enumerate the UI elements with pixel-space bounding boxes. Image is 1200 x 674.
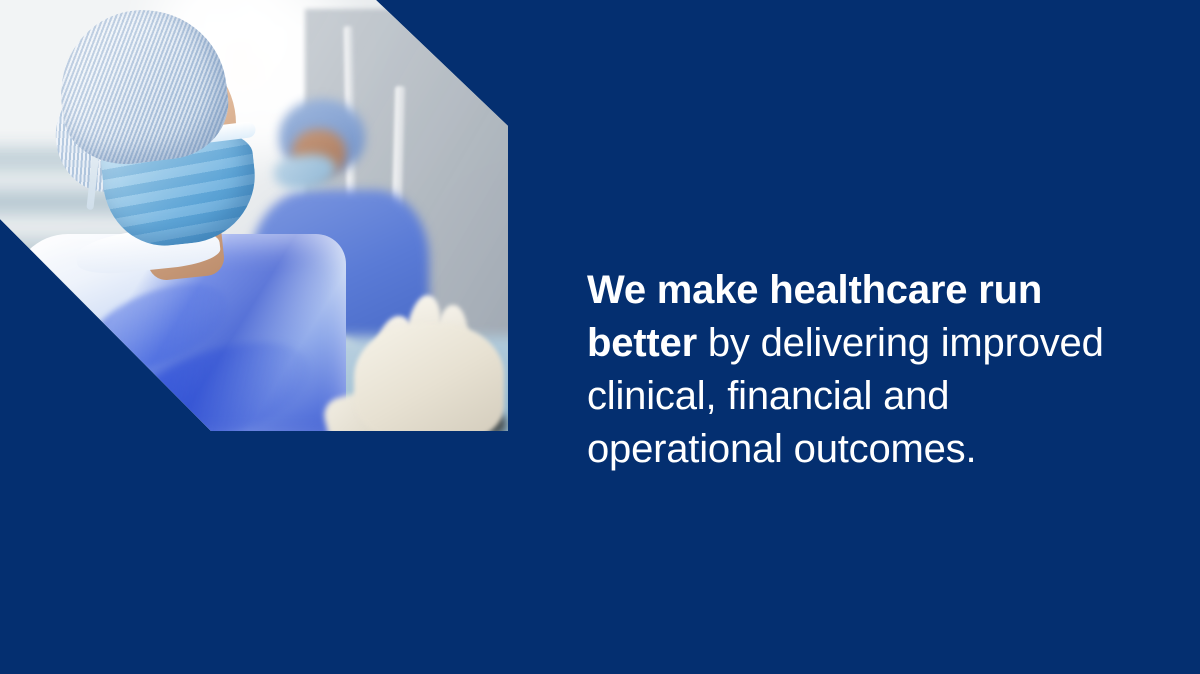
glove-palm [354, 323, 504, 431]
operating-room-photo [0, 0, 508, 431]
headline: We make healthcare run better by deliver… [587, 264, 1132, 476]
foreground-gloved-hand [314, 291, 508, 431]
hero-slide: We make healthcare run better by deliver… [0, 0, 1200, 674]
hero-photo [0, 0, 508, 431]
foreground-nurse [8, 6, 348, 431]
